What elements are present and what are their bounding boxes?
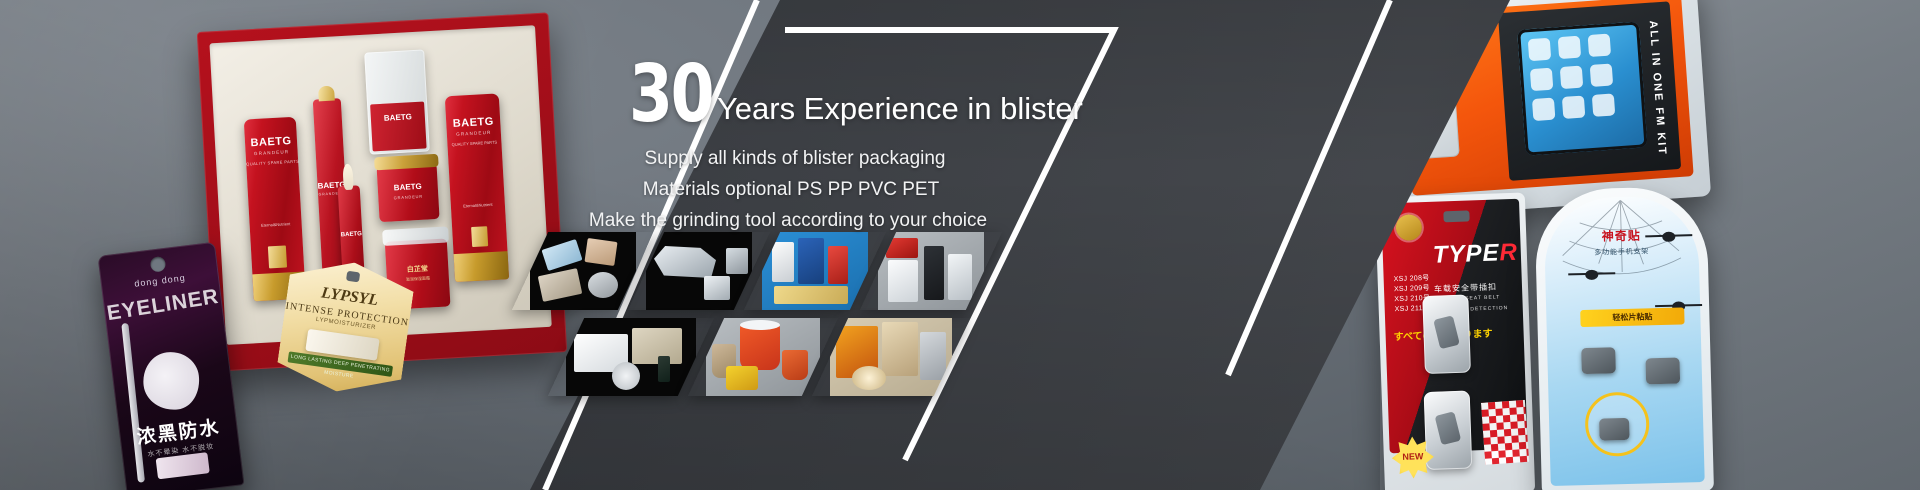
thumb-electronics-gray bbox=[878, 232, 984, 310]
bottle-brand-label: BAETG bbox=[371, 112, 425, 124]
thumb-retail-packs-blue bbox=[762, 232, 868, 310]
thumb-item bbox=[726, 366, 758, 390]
tube-footer-label: Eternal&Nutrient bbox=[250, 221, 302, 229]
thumb-item bbox=[740, 324, 780, 370]
headline-suffix: Years Experience in blister bbox=[717, 91, 1083, 127]
pen-gold-base bbox=[313, 98, 342, 125]
phone-app-icon bbox=[1592, 93, 1615, 116]
tube2-gold-emblem bbox=[471, 226, 488, 247]
tube-tagline-label: QUALITY SPARE PARTS bbox=[246, 159, 298, 167]
thumb-item bbox=[541, 239, 582, 271]
type-r-title-type: TYPE bbox=[1432, 239, 1500, 268]
jar-bottom-cn-sub: 滋润保湿面霜 bbox=[387, 274, 449, 283]
product-spider-blister: 神奇贴 多功能手机支架 轻松片粘贴 bbox=[1534, 186, 1714, 490]
tube-gold-emblem bbox=[268, 245, 287, 268]
thumb-item bbox=[654, 246, 716, 278]
thumb-item bbox=[726, 248, 748, 274]
type-r-seal-icon bbox=[1395, 214, 1422, 241]
tube-subbrand-label: GRANDEUR bbox=[246, 149, 298, 157]
phone-app-icon bbox=[1530, 68, 1553, 91]
thumb-item bbox=[852, 366, 886, 390]
eyeliner-face-silhouette bbox=[140, 349, 203, 413]
serum-pen-gold-tip bbox=[318, 86, 335, 102]
type-r-hang-hole-icon bbox=[1443, 210, 1469, 222]
product-cream-jar-small: BAETG GRANDEUR bbox=[377, 163, 440, 222]
ampoule-dropper-tip bbox=[342, 164, 354, 191]
subtitle-line-3: Make the grinding tool according to your… bbox=[546, 205, 1030, 236]
spider-yellow-strip: 轻松片粘贴 bbox=[1580, 307, 1684, 327]
thumb-item bbox=[538, 268, 583, 302]
thumb-item bbox=[584, 238, 617, 266]
spider-phone-hook bbox=[1581, 347, 1616, 374]
ampoule-brand-label: BAETG bbox=[340, 231, 362, 238]
thumb-item bbox=[740, 320, 780, 330]
thumb-item bbox=[632, 328, 682, 364]
banner-root: BAETG GRANDEUR QUALITY SPARE PARTS Etern… bbox=[0, 0, 1920, 490]
tube2-footer-label: Eternal&Nutrient bbox=[451, 201, 505, 209]
subtitle-block: Supply all kinds of blister packaging Ma… bbox=[560, 143, 1030, 236]
thumb-item bbox=[658, 356, 670, 382]
thumb-item bbox=[782, 350, 808, 380]
phone-app-icon bbox=[1588, 34, 1611, 57]
jar-bottom-cn-label: 白芷堂 bbox=[386, 262, 448, 275]
product-cream-tube-right: BAETG GRANDEUR QUALITY SPARE PARTS Etern… bbox=[445, 93, 509, 282]
thumb-item bbox=[924, 246, 944, 300]
thumb-item bbox=[798, 238, 824, 284]
headline: 30 Years Experience in blister bbox=[629, 57, 1083, 133]
phone-app-icon bbox=[1528, 38, 1551, 61]
tube2-brand-label: BAETG bbox=[446, 115, 501, 130]
lip-balm-hang-hole-icon bbox=[345, 271, 359, 283]
phone-app-icon bbox=[1532, 98, 1555, 121]
eyeliner-hang-hole-icon bbox=[150, 256, 167, 273]
jar-gold-lid bbox=[374, 154, 439, 171]
thumb-blister-trays-black bbox=[530, 232, 636, 310]
thumb-item bbox=[948, 254, 972, 300]
thumb-item bbox=[612, 362, 640, 390]
type-r-checker-flag bbox=[1481, 400, 1529, 465]
thumb-item bbox=[772, 242, 794, 282]
glass-bottle-liquid: BAETG bbox=[370, 102, 427, 152]
thumb-item bbox=[886, 238, 918, 258]
subtitle-line-2: Materials optional PS PP PVC PET bbox=[552, 174, 1030, 205]
tube2-tagline-label: QUALITY SPARE PARTS bbox=[447, 139, 501, 147]
product-type-r-blister: TYPER XSJ 208号 XSJ 209号 XSJ 210号 XSJ 211… bbox=[1375, 192, 1535, 490]
thumb-clamshell-tools-black bbox=[646, 232, 752, 310]
thumb-item bbox=[888, 260, 918, 302]
tube2-gold-cap bbox=[454, 251, 509, 282]
tube-brand-label: BAETG bbox=[245, 135, 298, 150]
phone-app-icon bbox=[1560, 66, 1583, 89]
thumb-toy-packs-gray bbox=[830, 318, 952, 396]
spider-phone-hook bbox=[1645, 358, 1680, 385]
thumb-item bbox=[882, 322, 918, 376]
jar-brand-label: BAETG bbox=[378, 181, 438, 193]
phone-mount-vertical-label: ALL IN ONE FM KIT bbox=[1647, 20, 1668, 156]
seat-belt-buckle bbox=[1422, 295, 1471, 375]
spider-card-inner: 神奇贴 多功能手机支架 轻松片粘贴 bbox=[1543, 195, 1704, 486]
thumb-item bbox=[704, 276, 730, 300]
tube2-subbrand-label: GRANDEUR bbox=[447, 129, 501, 137]
type-r-title: TYPER bbox=[1432, 239, 1518, 270]
phone-app-icon bbox=[1562, 95, 1585, 118]
phone-app-icon bbox=[1558, 36, 1581, 59]
jar-subbrand-label: GRANDEUR bbox=[378, 193, 438, 201]
jar-bottom-clear-lid bbox=[382, 226, 449, 246]
phone-app-icon bbox=[1590, 63, 1613, 86]
thumb-item bbox=[588, 272, 618, 298]
spider-phone-hook bbox=[1599, 418, 1630, 441]
thumb-item bbox=[774, 286, 848, 304]
type-r-title-r: R bbox=[1499, 239, 1518, 267]
thumb-medical-trays-black bbox=[566, 318, 696, 396]
product-glass-bottle: BAETG bbox=[364, 49, 430, 154]
thumb-item bbox=[828, 246, 848, 284]
spider-yellow-strip-label: 轻松片粘贴 bbox=[1580, 307, 1684, 327]
thumb-item bbox=[920, 332, 946, 380]
headline-number: 30 bbox=[629, 57, 712, 133]
phone-mount-dark-panel: ALL IN ONE FM KIT bbox=[1498, 1, 1681, 181]
subtitle-line-1: Supply all kinds of blister packaging bbox=[560, 143, 1030, 174]
phone-screen bbox=[1517, 21, 1647, 155]
thumb-paper-cups-gray bbox=[706, 318, 820, 396]
